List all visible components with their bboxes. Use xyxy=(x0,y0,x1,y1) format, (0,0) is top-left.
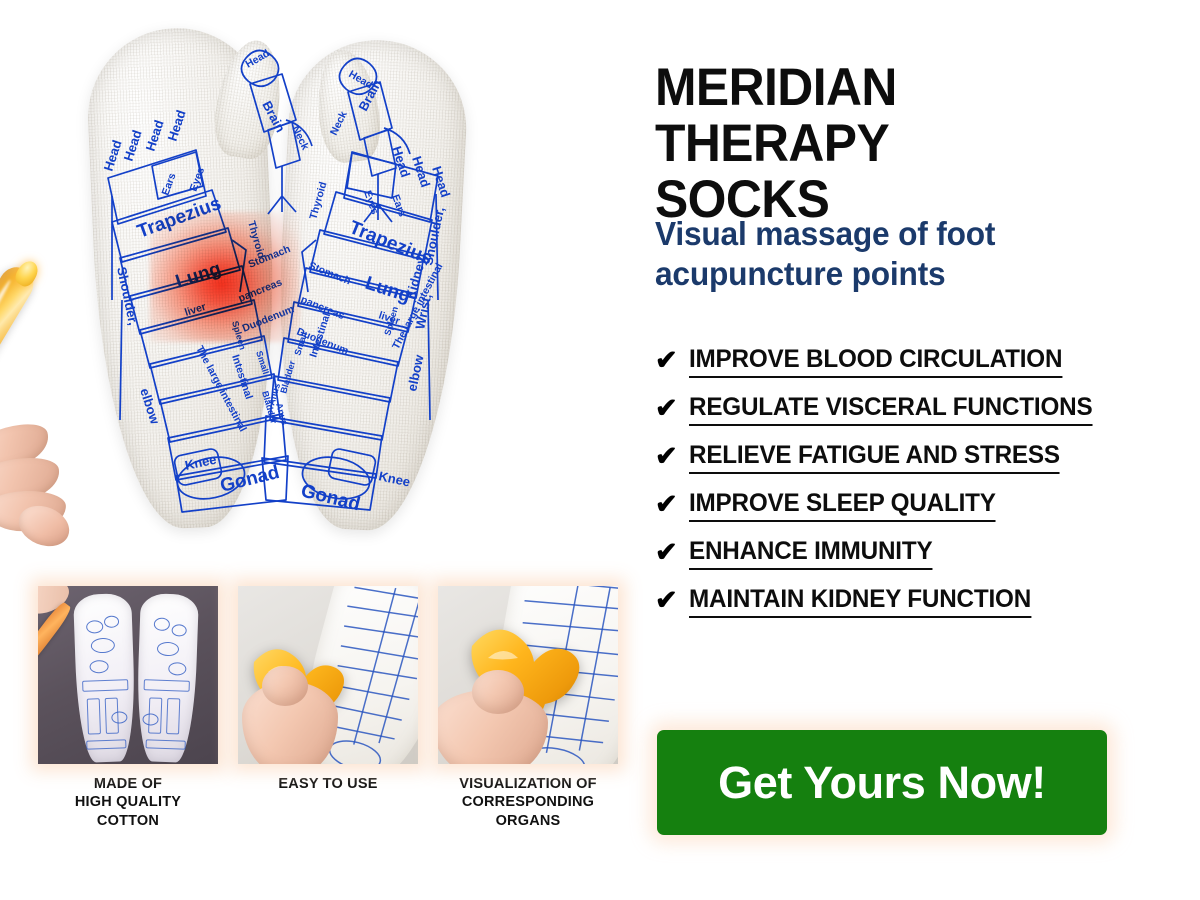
check-icon: ✔ xyxy=(655,489,689,518)
sock-right xyxy=(135,593,199,763)
check-icon: ✔ xyxy=(655,537,689,566)
benefit-item: ✔ REGULATE VISCERAL FUNCTIONS xyxy=(655,393,1155,426)
benefit-item: ✔ IMPROVE BLOOD CIRCULATION xyxy=(655,345,1155,378)
check-icon: ✔ xyxy=(655,345,689,374)
thumbnail-easy-to-use[interactable]: EASY TO USE xyxy=(238,586,418,793)
reflex-label: pancreas xyxy=(237,276,284,304)
reflex-label: Intestinal xyxy=(229,353,255,401)
benefit-label: IMPROVE BLOOD CIRCULATION xyxy=(689,345,1062,378)
reflex-label: Shoulder, xyxy=(420,206,447,267)
reflex-label: Thyroid xyxy=(307,181,329,221)
reflex-label: Head xyxy=(143,118,167,153)
reflex-label: Small xyxy=(254,350,271,376)
reflex-label: Head xyxy=(121,128,145,163)
reflex-label: Neck xyxy=(289,124,311,152)
benefit-label: RELIEVE FATIGUE AND STRESS xyxy=(689,441,1060,474)
reflex-label: Head xyxy=(389,144,413,179)
thumbnail-socks-on-feet[interactable]: MADE OF HIGH QUALITY COTTON xyxy=(38,586,218,830)
thumbnail-caption: EASY TO USE xyxy=(238,775,418,793)
benefit-label: MAINTAIN KIDNEY FUNCTION xyxy=(689,585,1031,618)
reflex-label: Stomach xyxy=(307,260,353,288)
benefit-item: ✔ RELIEVE FATIGUE AND STRESS xyxy=(655,441,1155,474)
marketing-copy-panel: MERIDIAN THERAPY SOCKS Visual massage of… xyxy=(655,0,1200,900)
reflex-label: Knee xyxy=(377,468,411,489)
benefit-item: ✔ IMPROVE SLEEP QUALITY xyxy=(655,489,1155,522)
check-icon: ✔ xyxy=(655,585,689,614)
hero-product-image: Head Head Head Head Ears Eyes Trapezius … xyxy=(0,0,640,570)
reflex-label: Neck xyxy=(328,109,350,137)
reflex-label: Duodenum xyxy=(241,303,296,335)
thumb xyxy=(262,666,308,706)
benefit-list: ✔ IMPROVE BLOOD CIRCULATION ✔ REGULATE V… xyxy=(655,345,1155,633)
page-subtitle: Visual massage of foot acupuncture point… xyxy=(655,214,1135,293)
benefit-item: ✔ ENHANCE IMMUNITY xyxy=(655,537,1155,570)
thumbnail-visualization[interactable]: VISUALIZATION OF CORRESPONDING ORGANS xyxy=(438,586,618,830)
reflex-label: elbow xyxy=(404,353,427,393)
reflex-label: elbow xyxy=(137,386,163,427)
thumbnail-strip: MADE OF HIGH QUALITY COTTON xyxy=(38,586,648,866)
reflex-label: Head xyxy=(165,108,189,143)
thumb xyxy=(472,670,524,714)
check-icon: ✔ xyxy=(655,393,689,422)
get-yours-now-button[interactable]: Get Yours Now! xyxy=(657,730,1107,835)
benefit-item: ✔ MAINTAIN KIDNEY FUNCTION xyxy=(655,585,1155,618)
page-subtitle-line: Visual massage of foot xyxy=(655,214,1135,254)
benefit-label: REGULATE VISCERAL FUNCTIONS xyxy=(689,393,1092,426)
reflex-label: Ears xyxy=(389,193,408,219)
sock-left xyxy=(73,593,137,763)
check-icon: ✔ xyxy=(655,441,689,470)
page-title: MERIDIAN THERAPY SOCKS xyxy=(655,60,1125,229)
page-title-line: MERIDIAN THERAPY xyxy=(655,60,1125,172)
hand-holding-tool xyxy=(0,415,98,545)
reflex-label: Gonad xyxy=(299,480,362,515)
thumbnail-image xyxy=(38,586,218,764)
thumbnail-image xyxy=(238,586,418,764)
reflex-label: Shoulder, xyxy=(114,266,141,327)
benefit-label: IMPROVE SLEEP QUALITY xyxy=(689,489,996,522)
thumbnail-caption: VISUALIZATION OF CORRESPONDING ORGANS xyxy=(438,775,618,830)
benefit-label: ENHANCE IMMUNITY xyxy=(689,537,932,570)
thumbnail-caption: MADE OF HIGH QUALITY COTTON xyxy=(38,775,218,830)
thumbnail-image xyxy=(438,586,618,764)
page-subtitle-line: acupuncture points xyxy=(655,254,1135,294)
reflex-label: Lung xyxy=(173,258,224,292)
